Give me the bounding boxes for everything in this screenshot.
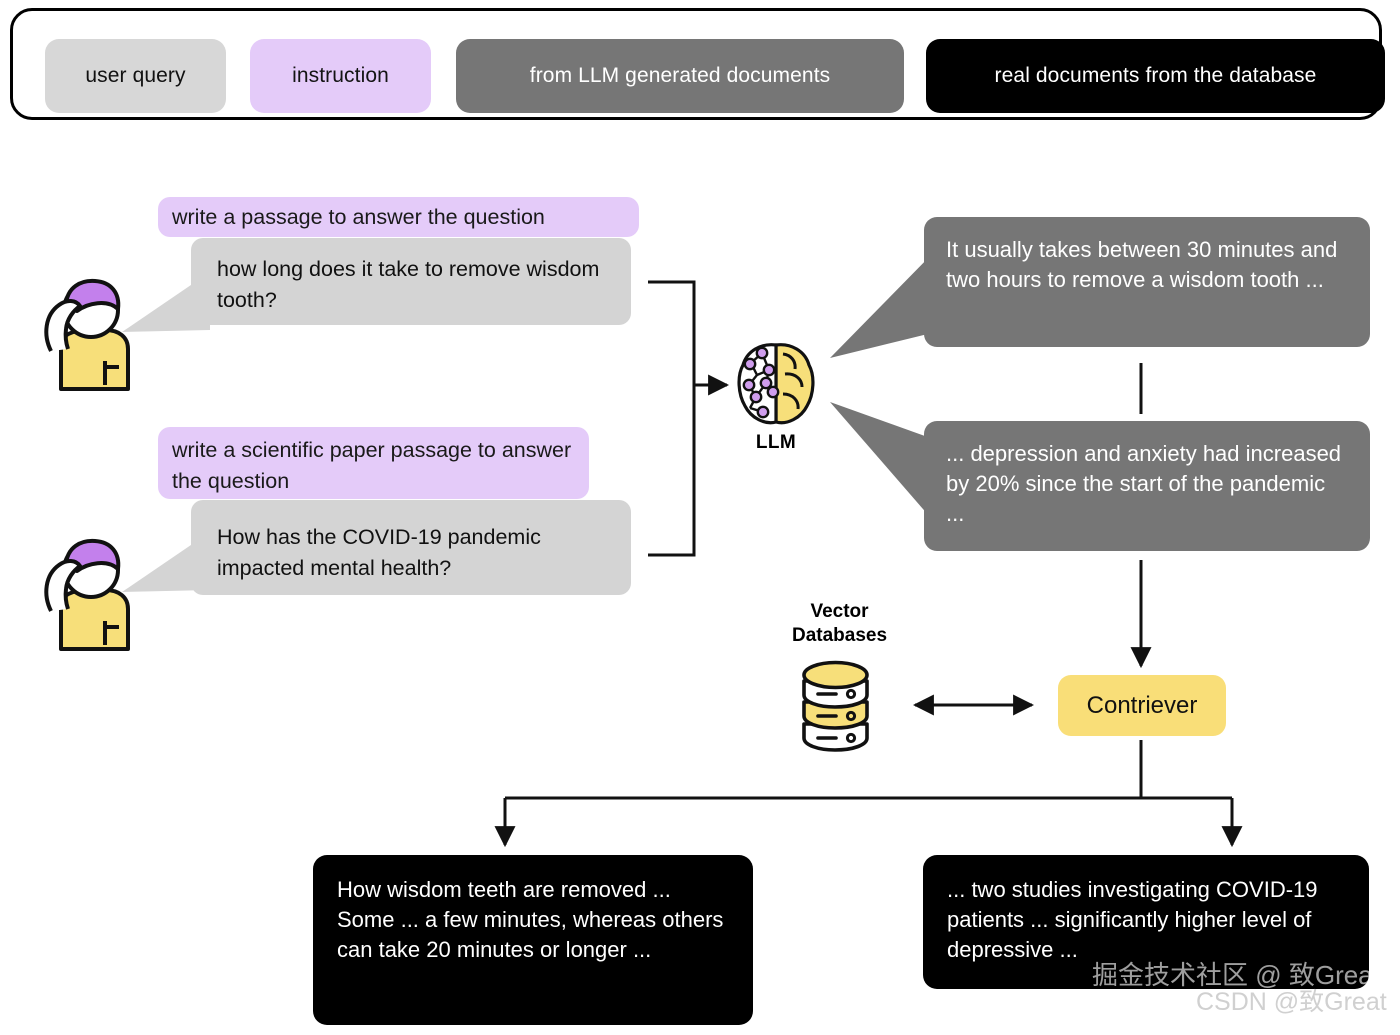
generated-document-text: ... depression and anxiety had increased…	[946, 441, 1341, 526]
database-cylinder-icon	[798, 658, 873, 753]
contriever-node: Contriever	[1058, 675, 1226, 736]
legend-chip-label: real documents from the database	[995, 64, 1317, 88]
legend-chip-label: instruction	[292, 64, 389, 88]
legend-chip-label: user query	[85, 64, 185, 88]
instruction-bubble-2: write a scientific paper passage to answ…	[158, 427, 589, 499]
legend-chip-user-query: user query	[45, 39, 226, 113]
legend-chip-real-documents: real documents from the database	[926, 39, 1385, 113]
contriever-label: Contriever	[1087, 692, 1198, 720]
diagram-canvas: user query instruction from LLM generate…	[0, 0, 1400, 1035]
user-avatar-icon	[33, 277, 148, 392]
vector-databases-label-line2: Databases	[757, 624, 922, 648]
vector-databases-label-line1: Vector	[757, 600, 922, 624]
brain-icon	[735, 340, 817, 428]
llm-label: LLM	[735, 432, 817, 454]
legend-chip-llm-documents: from LLM generated documents	[456, 39, 904, 113]
generated-document-2: ... depression and anxiety had increased…	[924, 421, 1370, 551]
legend-chip-label: from LLM generated documents	[530, 64, 830, 88]
generated-doc-tail	[826, 240, 936, 360]
legend-container: user query instruction from LLM generate…	[10, 8, 1382, 120]
user-query-text: how long does it take to remove wisdom t…	[217, 254, 615, 316]
instruction-bubble-1: write a passage to answer the question	[158, 197, 639, 237]
retrieved-document-1: How wisdom teeth are removed ... Some ..…	[313, 855, 753, 1025]
vector-databases-label: Vector Databases	[757, 600, 922, 648]
generated-doc-tail	[826, 400, 936, 530]
watermark-secondary: CSDN @致Great	[1196, 982, 1387, 1018]
instruction-text: write a passage to answer the question	[172, 205, 545, 229]
generated-document-text: It usually takes between 30 minutes and …	[946, 237, 1337, 292]
retrieved-document-text: ... two studies investigating COVID-19 p…	[947, 877, 1318, 962]
retrieved-document-text: How wisdom teeth are removed ... Some ..…	[337, 877, 723, 962]
generated-document-1: It usually takes between 30 minutes and …	[924, 217, 1370, 347]
user-query-bubble-1: how long does it take to remove wisdom t…	[191, 238, 631, 325]
user-query-bubble-2: How has the COVID-19 pandemic impacted m…	[191, 500, 631, 595]
user-query-text: How has the COVID-19 pandemic impacted m…	[217, 522, 615, 584]
user-avatar-icon	[33, 537, 148, 652]
instruction-text: write a scientific paper passage to answ…	[172, 438, 571, 493]
legend-chip-instruction: instruction	[250, 39, 431, 113]
